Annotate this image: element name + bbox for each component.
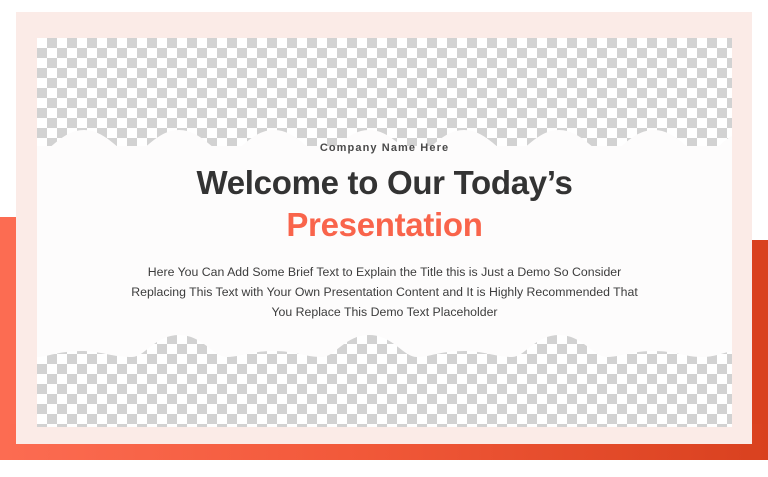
company-name-label: Company Name Here [320,142,449,154]
slide-text-block: Company Name Here Welcome to Our Today’s… [37,38,732,427]
presentation-slide: Company Name Here Welcome to Our Today’s… [0,0,768,477]
slide-subtitle: Here You Can Add Some Brief Text to Expl… [125,262,645,323]
slide-title-line-1: Welcome to Our Today’s [196,164,572,202]
slide-content-card: Company Name Here Welcome to Our Today’s… [37,38,732,427]
slide-title-line-2: Presentation [286,206,482,244]
